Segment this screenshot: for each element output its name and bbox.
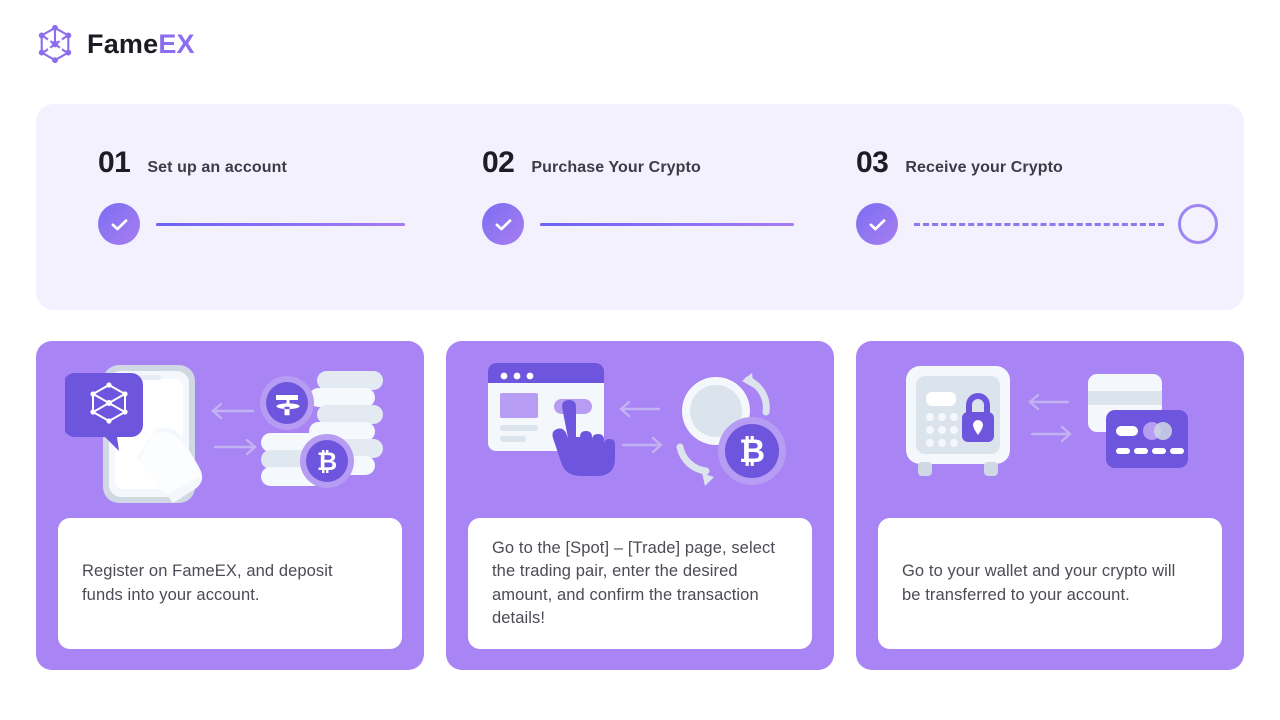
step-card-3-text-box: Go to your wallet and your crypto will b… [878,518,1222,649]
steps-card-row: ₿ Register on FameEX, and deposit funds … [36,341,1244,670]
step-card-1-description: Register on FameEX, and deposit funds in… [82,560,378,607]
phone-with-hand-and-coin-stacks-illustration: ₿ [36,341,424,519]
step-3-title: Receive your Crypto [905,160,1063,176]
step-card-3[interactable]: Go to your wallet and your crypto will b… [856,341,1244,670]
fameex-network-logo-icon [36,24,74,64]
check-circle-icon [98,203,140,245]
brand-name-accent: EX [158,29,194,59]
progress-steps: 01 Set up an account 02 Purchase Your Cr… [98,148,1248,245]
step-3-number: 03 [856,148,888,178]
empty-circle-icon [1178,204,1218,244]
step-3-heading: 03 Receive your Crypto [856,148,1248,184]
progress-step-3[interactable]: 03 Receive your Crypto [856,148,1248,245]
progress-step-1[interactable]: 01 Set up an account [98,148,482,245]
step-1-number: 01 [98,148,130,178]
bitcoin-coin-icon: ₿ [718,417,786,485]
step-card-3-description: Go to your wallet and your crypto will b… [902,560,1198,607]
step-1-track [98,203,482,245]
step-card-2[interactable]: ₿ Go to the [Spot] – [Trade] page, selec… [446,341,834,670]
step-card-1-text-box: Register on FameEX, and deposit funds in… [58,518,402,649]
safe-vault-and-bank-cards-illustration [856,341,1244,519]
step-card-2-description: Go to the [Spot] – [Trade] page, select … [492,537,788,631]
check-circle-icon [856,203,898,245]
step-2-connector-line [540,223,794,226]
check-circle-icon [482,203,524,245]
usdt-coin-icon [260,376,314,430]
step-2-title: Purchase Your Crypto [531,160,700,176]
step-1-connector-line [156,223,405,226]
svg-text:₿: ₿ [739,433,765,469]
browser-click-and-crypto-swap-illustration: ₿ [446,341,834,519]
brand-wordmark: FameEX [87,31,195,58]
svg-text:₿: ₿ [317,448,337,476]
brand-header: FameEX [36,24,195,64]
step-2-track [482,203,856,245]
step-3-connector-line [914,223,1164,226]
brand-name-primary: Fame [87,29,158,59]
step-card-2-text-box: Go to the [Spot] – [Trade] page, select … [468,518,812,649]
step-3-track [856,203,1248,245]
progress-step-2[interactable]: 02 Purchase Your Crypto [482,148,856,245]
progress-banner: 01 Set up an account 02 Purchase Your Cr… [36,104,1244,310]
step-2-number: 02 [482,148,514,178]
step-1-title: Set up an account [147,160,287,176]
step-card-1[interactable]: ₿ Register on FameEX, and deposit funds … [36,341,424,670]
step-2-heading: 02 Purchase Your Crypto [482,148,856,184]
step-1-heading: 01 Set up an account [98,148,482,184]
bitcoin-coin-icon: ₿ [300,434,354,488]
